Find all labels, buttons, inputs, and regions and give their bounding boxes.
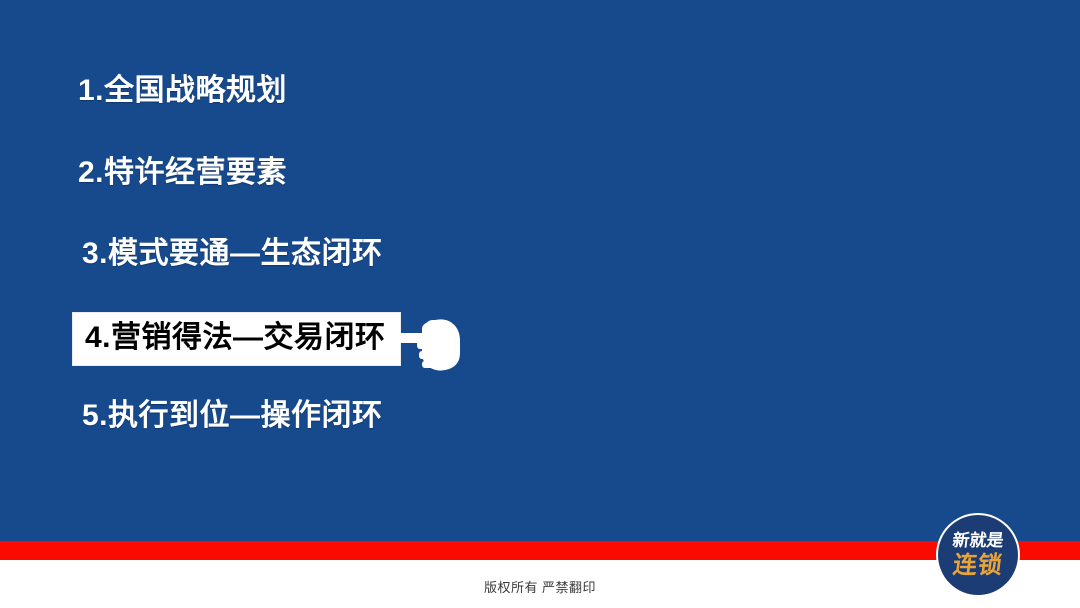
list-item-3[interactable]: 3.模式要通—生态闭环 — [82, 239, 383, 269]
copyright-note: 版权所有 严禁翻印 — [0, 577, 1080, 596]
logo-bottom-text: 连锁 — [938, 554, 1018, 578]
red-accent-bar — [0, 541, 1080, 560]
presentation-slide: 1.全国战略规划 2.特许经营要素 3.模式要通—生态闭环 4.营销得法—交易闭… — [0, 0, 1080, 608]
logo-top-text: 新就是 — [938, 532, 1018, 549]
list-item-5[interactable]: 5.执行到位—操作闭环 — [82, 401, 383, 431]
list-item-1[interactable]: 1.全国战略规划 — [78, 76, 287, 106]
list-item-4-highlighted[interactable]: 4.营销得法—交易闭环 — [73, 313, 400, 365]
list-item-2[interactable]: 2.特许经营要素 — [78, 158, 287, 188]
hand-pointing-left-icon — [392, 307, 468, 373]
agenda-list: 1.全国战略规划 2.特许经营要素 3.模式要通—生态闭环 4.营销得法—交易闭… — [0, 0, 1080, 541]
